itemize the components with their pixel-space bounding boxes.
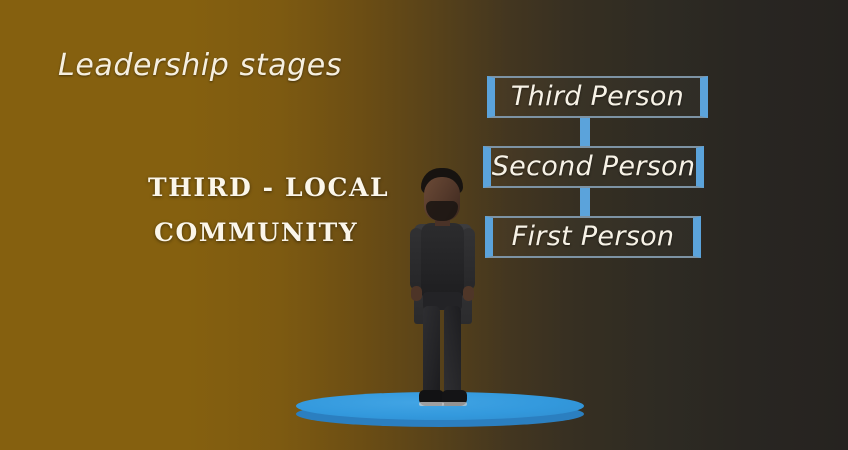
avatar-hand-left <box>411 286 422 301</box>
avatar-sole-right <box>442 402 467 406</box>
flow-box-first-person-label: First Person <box>512 221 675 252</box>
avatar-leg-right <box>444 306 461 394</box>
avatar-hand-right <box>463 286 474 301</box>
avatar-leg-left <box>423 306 440 394</box>
slide-subtitle-line-2: COMMUNITY <box>148 210 398 255</box>
page-title: Leadership stages <box>58 48 342 83</box>
flow-box-second-person[interactable]: Second Person <box>483 146 704 188</box>
slide-canvas: Leadership stages THIRD - LOCAL COMMUNIT… <box>0 0 848 450</box>
avatar-torso <box>421 223 464 297</box>
avatar-sole-left <box>419 402 444 406</box>
flow-box-first-person[interactable]: First Person <box>485 216 701 258</box>
flow-connector-third-to-second <box>580 118 590 148</box>
flow-box-third-person-label: Third Person <box>511 81 684 112</box>
flow-connector-second-to-first <box>580 188 590 218</box>
slide-subtitle-line-1: THIRD - LOCAL <box>148 165 398 210</box>
presenter-avatar <box>388 168 496 418</box>
slide-subtitle: THIRD - LOCAL COMMUNITY <box>148 165 398 255</box>
flow-box-third-person[interactable]: Third Person <box>487 76 708 118</box>
flow-box-second-person-label: Second Person <box>492 151 696 182</box>
